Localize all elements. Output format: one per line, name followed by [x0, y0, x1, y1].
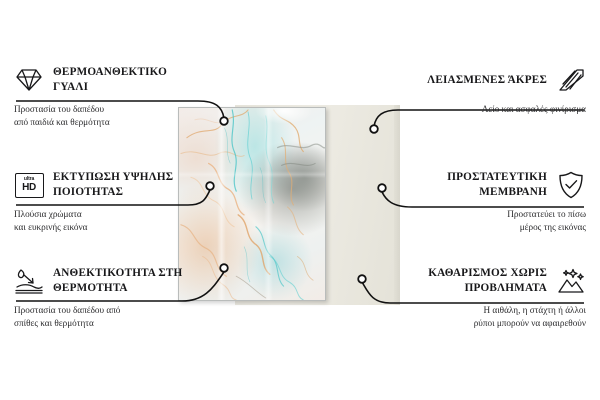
feature-title: ΚΑΘΑΡΙΣΜΟΣ ΧΩΡΙΣ ΠΡΟΒΛΗΜΑΤΑ [401, 266, 547, 296]
feature-description: Προστασία του δαπέδου από παιδιά και θερ… [14, 103, 199, 130]
flame-resistant-icon [14, 266, 44, 296]
ink-veins-artwork [179, 108, 325, 300]
feature-header: ΛΕΙΑΣΜΕΝΕΣ ΆΚΡΕΣ [401, 64, 586, 96]
feature-thermal-glass: ΘΕΡΜΟΑΝΘΕΚΤΙΚΟ ΓΥΑΛΙ Προστασία του δαπέδ… [14, 64, 199, 130]
feature-title: ΛΕΙΑΣΜΕΝΕΣ ΆΚΡΕΣ [427, 73, 547, 88]
feature-description-line-2: ρύποι μπορούν να αφαιρεθούν [401, 317, 586, 330]
diamond-icon [14, 65, 44, 95]
feature-description-line-2: και ευκρινής εικόνα [14, 221, 199, 234]
feature-header: ΘΕΡΜΟΑΝΘΕΚΤΙΚΟ ΓΥΑΛΙ [14, 64, 199, 96]
feature-description: Προστασία του δαπέδου από σπίθες και θερ… [14, 304, 199, 331]
feature-description: Προστατεύει το πίσω μέρος της εικόνας [401, 208, 586, 235]
feature-description-line-2: σπίθες και θερμότητα [14, 317, 199, 330]
glass-panel [178, 107, 326, 301]
feature-description-line-2: από παιδιά και θερμότητα [14, 116, 199, 129]
feature-description-line-1: Προστασία του δαπέδου από [14, 304, 199, 317]
backer-panel-edge [394, 105, 400, 305]
feature-header: ΚΑΘΑΡΙΣΜΟΣ ΧΩΡΙΣ ΠΡΟΒΛΗΜΑΤΑ [401, 265, 586, 297]
shield-check-icon [556, 170, 586, 200]
feature-title: ΕΚΤΥΠΩΣΗ ΥΨΗΛΗΣ ΠΟΙΟΤΗΤΑΣ [53, 170, 199, 200]
feature-header: ultra HD ΕΚΤΥΠΩΣΗ ΥΨΗΛΗΣ ΠΟΙΟΤΗΤΑΣ [14, 169, 199, 201]
feature-hd-print: ultra HD ΕΚΤΥΠΩΣΗ ΥΨΗΛΗΣ ΠΟΙΟΤΗΤΑΣ Πλούσ… [14, 169, 199, 235]
feature-description-line-1: Πλούσια χρώματα [14, 208, 199, 221]
feature-title: ΑΝΘΕΚΤΙΚΟΤΗΤΑ ΣΤΗ ΘΕΡΜΟΤΗΤΑ [53, 266, 199, 296]
feature-header: ΑΝΘΕΚΤΙΚΟΤΗΤΑ ΣΤΗ ΘΕΡΜΟΤΗΤΑ [14, 265, 199, 297]
feature-description-line-1: Λείο και ασφαλές φινίρισμα [401, 103, 586, 116]
feature-title: ΠΡΟΣΤΑΤΕΥΤΙΚΗ ΜΕΜΒΡΑΝΗ [401, 170, 547, 200]
feature-title: ΘΕΡΜΟΑΝΘΕΚΤΙΚΟ ΓΥΑΛΙ [53, 65, 199, 95]
feature-description: Πλούσια χρώματα και ευκρινής εικόνα [14, 208, 199, 235]
feature-easy-cleaning: ΚΑΘΑΡΙΣΜΟΣ ΧΩΡΙΣ ΠΡΟΒΛΗΜΑΤΑ Η αιθάλη, η … [401, 265, 586, 331]
ultra-hd-badge: ultra HD [15, 173, 44, 198]
easy-clean-sparkle-icon [556, 266, 586, 296]
ultra-hd-badge-main: HD [22, 183, 36, 193]
feature-description: Η αιθάλη, η στάχτη ή άλλοι ρύποι μπορούν… [401, 304, 586, 331]
feature-description-line-1: Η αιθάλη, η στάχτη ή άλλοι [401, 304, 586, 317]
feature-description: Λείο και ασφαλές φινίρισμα [401, 103, 586, 116]
feature-polished-edges: ΛΕΙΑΣΜΕΝΕΣ ΆΚΡΕΣ Λείο και ασφαλές φινίρι… [401, 64, 586, 116]
feature-description-line-2: μέρος της εικόνας [401, 221, 586, 234]
feature-protective-membrane: ΠΡΟΣΤΑΤΕΥΤΙΚΗ ΜΕΜΒΡΑΝΗ Προστατεύει το πί… [401, 169, 586, 235]
ultra-hd-icon: ultra HD [14, 170, 44, 200]
feature-description-line-1: Προστατεύει το πίσω [401, 208, 586, 221]
feature-description-line-1: Προστασία του δαπέδου [14, 103, 199, 116]
feature-heat-resistance: ΑΝΘΕΚΤΙΚΟΤΗΤΑ ΣΤΗ ΘΕΡΜΟΤΗΤΑ Προστασία το… [14, 265, 199, 331]
infographic-root: ΘΕΡΜΟΑΝΘΕΚΤΙΚΟ ΓΥΑΛΙ Προστασία του δαπέδ… [0, 0, 600, 400]
polished-edges-icon [556, 65, 586, 95]
feature-header: ΠΡΟΣΤΑΤΕΥΤΙΚΗ ΜΕΜΒΡΑΝΗ [401, 169, 586, 201]
product-image [175, 105, 400, 305]
